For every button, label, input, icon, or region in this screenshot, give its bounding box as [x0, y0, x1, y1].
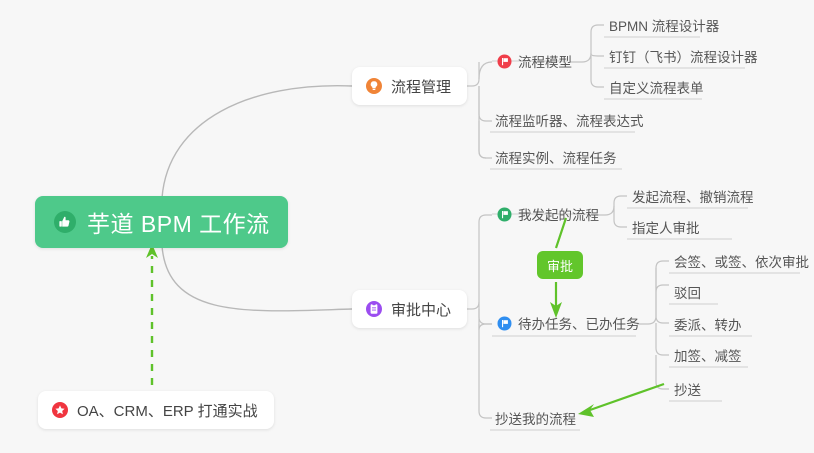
footnote-label: OA、CRM、ERP 打通实战 [77, 400, 258, 421]
branch-label-approval-center: 审批中心 [391, 299, 451, 320]
branch-node-process-management[interactable]: 流程管理 [352, 67, 467, 105]
edge-ac-to-todo [479, 302, 492, 330]
label-todo-done-tasks: 待办任务、已办任务 [518, 313, 640, 333]
node-process-model[interactable]: 流程模型 [492, 48, 578, 74]
node-countersign-orsign-sequential[interactable]: 会签、或签、依次审批 [669, 248, 814, 274]
root-label: 芋道 BPM 工作流 [87, 205, 270, 239]
approval-tag[interactable]: 审批 [537, 251, 583, 279]
label-countersign-orsign-sequential: 会签、或签、依次审批 [674, 251, 809, 271]
edge-pm2-to-custom-form [591, 56, 604, 87]
edge-root-to-approval-center [162, 246, 352, 311]
label-cc-to-me-process: 抄送我的流程 [495, 408, 576, 428]
node-delegate-transfer[interactable]: 委派、转办 [669, 311, 748, 337]
footnote-node[interactable]: OA、CRM、ERP 打通实战 [38, 391, 274, 429]
edge-pm2-to-dingtalk [591, 53, 604, 56]
node-reject[interactable]: 驳回 [669, 279, 707, 305]
label-add-remove-sign: 加签、减签 [674, 345, 742, 365]
flag-icon [497, 54, 512, 69]
flag-icon [497, 316, 512, 331]
label-process-listener-expression: 流程监听器、流程表达式 [495, 110, 644, 130]
node-my-initiated-process[interactable]: 我发起的流程 [492, 201, 605, 227]
edge-todo-to-reject [656, 268, 669, 292]
label-process-model: 流程模型 [518, 51, 572, 71]
label-assignee-approval: 指定人审批 [632, 217, 700, 237]
dashed-arrow-to-root [146, 244, 158, 385]
label-bpmn-designer: BPMN 流程设计器 [609, 15, 719, 35]
label-cc: 抄送 [674, 379, 701, 399]
approval-tag-label: 审批 [547, 256, 573, 275]
edge-mi-to-assignee [614, 206, 627, 227]
branch-node-approval-center[interactable]: 审批中心 [352, 290, 467, 328]
node-start-cancel-process[interactable]: 发起流程、撤销流程 [627, 183, 760, 209]
label-reject: 驳回 [674, 282, 701, 302]
node-process-listener-expression[interactable]: 流程监听器、流程表达式 [490, 107, 650, 133]
node-custom-process-form[interactable]: 自定义流程表单 [604, 74, 710, 100]
node-dingtalk-feishu-designer[interactable]: 钉钉（飞书）流程设计器 [604, 43, 764, 69]
label-dingtalk-feishu-designer: 钉钉（飞书）流程设计器 [609, 46, 758, 66]
edge-ac-to-todo2 [479, 309, 492, 324]
edge-todo-to-delegate [656, 292, 669, 323]
flag-icon [497, 207, 512, 222]
lightbulb-pin-icon [365, 77, 383, 95]
node-cc[interactable]: 抄送 [669, 376, 707, 402]
edge-root-to-process-management [162, 86, 352, 198]
edge-todo-to-cc [656, 355, 669, 389]
edge-todo-to-addsign [656, 323, 669, 355]
label-process-instance-task: 流程实例、流程任务 [495, 147, 617, 167]
node-cc-to-me-process[interactable]: 抄送我的流程 [490, 405, 582, 431]
cc-reference-arrow [578, 384, 664, 417]
branch-label-process-management: 流程管理 [391, 76, 451, 97]
node-todo-done-tasks[interactable]: 待办任务、已办任务 [492, 310, 646, 336]
mindmap-canvas: 芋道 BPM 工作流 流程管理 流程模型 BPMN 流程设计器 钉钉（飞书）流程… [0, 0, 814, 453]
node-assignee-approval[interactable]: 指定人审批 [627, 214, 706, 240]
node-bpmn-designer[interactable]: BPMN 流程设计器 [604, 12, 725, 38]
root-node[interactable]: 芋道 BPM 工作流 [35, 196, 288, 248]
node-add-remove-sign[interactable]: 加签、减签 [669, 342, 748, 368]
star-icon [51, 401, 69, 419]
edge-ac-to-cc-mine [479, 324, 492, 418]
label-custom-process-form: 自定义流程表单 [609, 77, 704, 97]
label-delegate-transfer: 委派、转办 [674, 314, 742, 334]
edge-pm-to-process-model [479, 62, 492, 79]
thumbs-up-icon [53, 210, 77, 234]
node-process-instance-task[interactable]: 流程实例、流程任务 [490, 144, 623, 170]
label-my-initiated-process: 我发起的流程 [518, 204, 599, 224]
label-start-cancel-process: 发起流程、撤销流程 [632, 186, 754, 206]
clipboard-icon [365, 300, 383, 318]
